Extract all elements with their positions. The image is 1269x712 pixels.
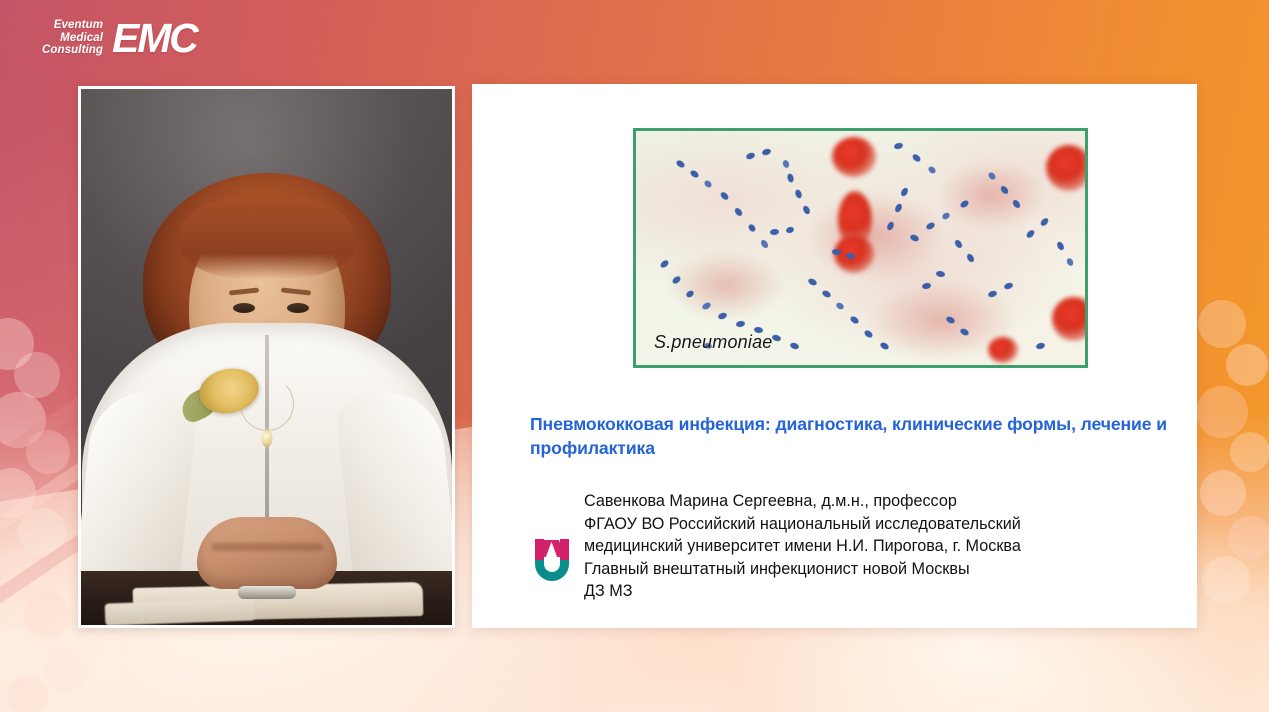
presenter-video-panel[interactable] [78, 86, 455, 628]
micrograph-caption: S.pneumoniae [654, 332, 773, 353]
author-line-1: Савенкова Марина Сергеевна, д.м.н., проф… [584, 490, 1184, 513]
author-line-4: Главный внештатный инфекционист новой Мо… [584, 558, 1184, 581]
micrograph-cell-5 [1052, 297, 1085, 341]
author-line-5: ДЗ МЗ [584, 580, 1184, 603]
slide-title: Пневмококковая инфекция: диагностика, кл… [530, 412, 1175, 460]
micrograph-cell-1 [832, 137, 876, 177]
presenter-eye-left [233, 303, 255, 313]
emc-logo: Eventum Medical Consulting EMC [42, 18, 197, 58]
rnimu-pirogov-logo-icon [535, 539, 569, 581]
slide-panel[interactable]: S.pneumoniae Пневмококковая инфекция: ди… [472, 84, 1197, 628]
emc-logo-line-2: Medical [60, 32, 103, 44]
presenter-hands [197, 517, 337, 589]
presenter-video-frame [81, 89, 452, 625]
micrograph-field [636, 131, 1085, 365]
emc-logo-mark: EMC [112, 18, 197, 58]
micrograph-cell-4 [1046, 145, 1085, 191]
micrograph-image: S.pneumoniae [633, 128, 1088, 368]
presenter-necklace-pendant [261, 430, 272, 447]
micrograph-cell-6 [988, 337, 1018, 363]
presenter-eye-right [287, 303, 309, 313]
desk-papers-secondary [105, 598, 256, 625]
emc-logo-line-3: Consulting [42, 44, 103, 56]
presenter-hair-fringe [179, 193, 355, 279]
author-line-3: медицинский университет имени Н.И. Пирог… [584, 535, 1184, 558]
author-line-2: ФГАОУ ВО Российский национальный исследо… [584, 513, 1184, 536]
emc-logo-line-1: Eventum [54, 19, 103, 31]
presentation-stage: Eventum Medical Consulting EMC [0, 0, 1269, 712]
author-affiliation-block: Савенкова Марина Сергеевна, д.м.н., проф… [584, 490, 1184, 603]
emc-logo-wordmark: Eventum Medical Consulting [42, 19, 103, 56]
presenter-wristwatch [238, 586, 296, 599]
